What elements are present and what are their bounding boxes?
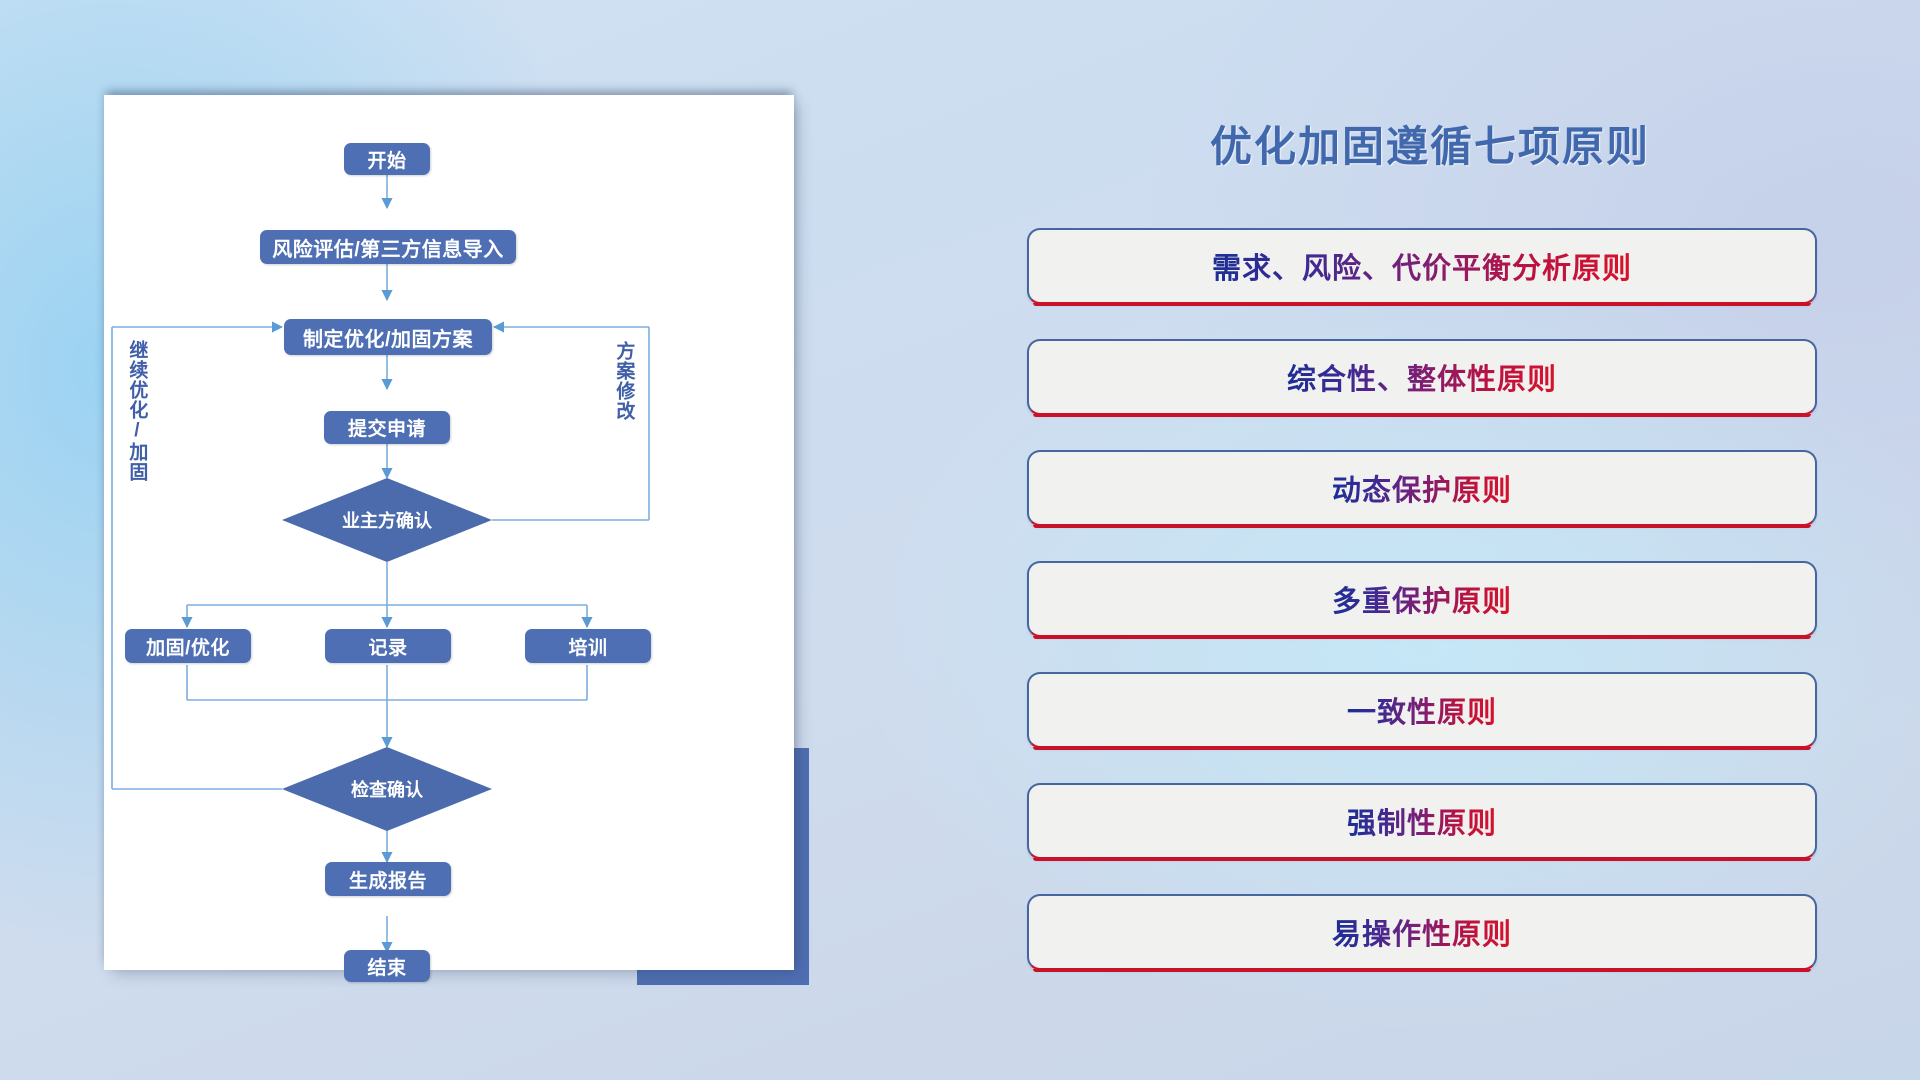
principle-item[interactable]: 易操作性原则 [1027, 894, 1817, 970]
principle-label: 需求、风险、代价平衡分析原则 [1212, 245, 1632, 287]
flow-node-end[interactable]: 结束 [344, 950, 430, 982]
flow-node-label: 提交申请 [348, 414, 426, 441]
flow-node-record[interactable]: 记录 [325, 629, 451, 663]
flow-node-label: 结束 [367, 953, 406, 980]
flow-node-plan[interactable]: 制定优化/加固方案 [284, 319, 492, 355]
flow-edge-label-continue-optimize: 继续优化/加固 [127, 340, 146, 482]
principle-label: 综合性、整体性原则 [1287, 356, 1557, 398]
flow-decision-owner-confirm[interactable]: 业主方确认 [282, 478, 492, 562]
flow-node-label: 检查确认 [282, 747, 492, 831]
flow-node-label: 培训 [568, 633, 607, 660]
flow-node-training[interactable]: 培训 [525, 629, 651, 663]
principle-label: 动态保护原则 [1332, 467, 1512, 509]
flow-node-reinforce-optimize[interactable]: 加固/优化 [125, 629, 251, 663]
principle-item[interactable]: 多重保护原则 [1027, 561, 1817, 637]
flow-node-generate-report[interactable]: 生成报告 [325, 862, 451, 896]
slide-canvas: 开始 风险评估/第三方信息导入 制定优化/加固方案 提交申请 业主方确认 加固/… [0, 0, 1920, 1080]
principles-panel: 优化加固遵循七项原则 需求、风险、代价平衡分析原则 综合性、整体性原则 动态保护… [1025, 95, 1835, 995]
flowchart-card: 开始 风险评估/第三方信息导入 制定优化/加固方案 提交申请 业主方确认 加固/… [104, 95, 794, 970]
principle-label: 易操作性原则 [1332, 911, 1512, 953]
flow-node-label: 加固/优化 [146, 633, 230, 660]
principle-label: 一致性原则 [1347, 689, 1497, 731]
principle-label: 多重保护原则 [1332, 578, 1512, 620]
flow-edge-label-plan-revision: 方案修改 [614, 341, 633, 421]
panel-title: 优化加固遵循七项原则 [1025, 113, 1835, 174]
flow-node-risk-assessment[interactable]: 风险评估/第三方信息导入 [260, 230, 516, 264]
flow-node-submit-application[interactable]: 提交申请 [324, 411, 450, 444]
flow-node-label: 生成报告 [349, 866, 427, 893]
flow-node-label: 业主方确认 [282, 478, 492, 562]
principle-label: 强制性原则 [1347, 800, 1497, 842]
principle-item[interactable]: 一致性原则 [1027, 672, 1817, 748]
flow-node-label: 记录 [368, 633, 407, 660]
flow-node-start[interactable]: 开始 [344, 143, 430, 175]
principle-item[interactable]: 动态保护原则 [1027, 450, 1817, 526]
principle-item[interactable]: 综合性、整体性原则 [1027, 339, 1817, 415]
flow-node-label: 风险评估/第三方信息导入 [272, 233, 504, 262]
principle-item[interactable]: 需求、风险、代价平衡分析原则 [1027, 228, 1817, 304]
flow-node-label: 制定优化/加固方案 [303, 323, 473, 352]
principle-item[interactable]: 强制性原则 [1027, 783, 1817, 859]
principles-list: 需求、风险、代价平衡分析原则 综合性、整体性原则 动态保护原则 多重保护原则 一… [1027, 228, 1817, 1005]
flow-decision-inspection-confirm[interactable]: 检查确认 [282, 747, 492, 831]
flow-node-label: 开始 [367, 146, 406, 173]
